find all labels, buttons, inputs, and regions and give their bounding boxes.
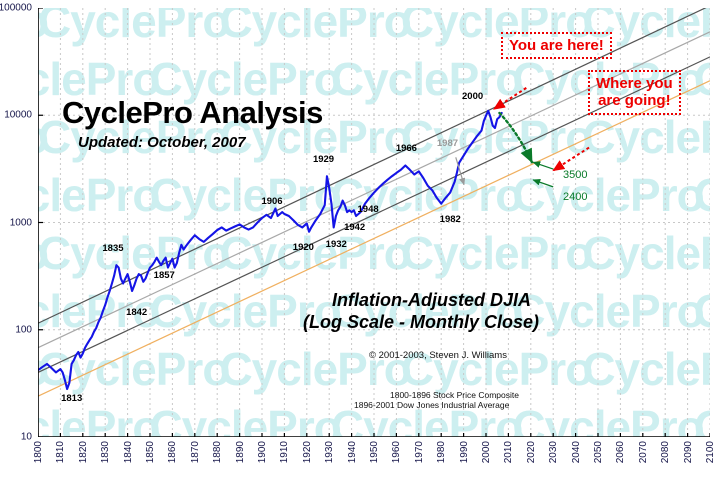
- x-tick-label: 1980: [436, 441, 447, 463]
- x-tick-label: 2100: [705, 441, 716, 463]
- x-tick-label: 1930: [324, 441, 335, 463]
- year-marker-1813: 1813: [61, 393, 82, 404]
- year-marker-1857: 1857: [154, 270, 175, 281]
- year-marker-1982: 1982: [440, 214, 461, 225]
- x-tick-label: 1940: [347, 441, 358, 463]
- callout-you-are-here-text: You are here!: [509, 37, 604, 54]
- chart-figure: CycleProCycleProCycleProCycleProCyclePro…: [0, 0, 716, 479]
- x-tick-label: 2030: [548, 441, 559, 463]
- callout-going-line1: Where you: [596, 75, 673, 92]
- year-marker-1987: 1987: [437, 138, 458, 149]
- x-tick-label: 1840: [123, 441, 134, 463]
- year-marker-2000: 2000: [462, 91, 483, 102]
- year-marker-1842: 1842: [126, 307, 147, 318]
- chart-title-line2: (Log Scale - Monthly Close): [303, 312, 539, 333]
- x-tick-label: 1960: [391, 441, 402, 463]
- source-line-1: 1800-1896 Stock Price Composite: [390, 390, 519, 400]
- x-tick-label: 2000: [481, 441, 492, 463]
- x-tick-label: 2010: [503, 441, 514, 463]
- x-tick-label: 1860: [167, 441, 178, 463]
- source-line-2: 1896-2001 Dow Jones Industrial Average: [354, 400, 509, 410]
- x-tick-label: 1800: [33, 441, 44, 463]
- x-tick-label: 2040: [571, 441, 582, 463]
- x-tick-label: 2060: [615, 441, 626, 463]
- year-marker-1920: 1920: [293, 242, 314, 253]
- x-tick-label: 2020: [526, 441, 537, 463]
- x-tick-label: 1830: [100, 441, 111, 463]
- x-tick-label: 1990: [459, 441, 470, 463]
- chart-title-line1: Inflation-Adjusted DJIA: [332, 290, 531, 311]
- projection-label-2400: 2400: [563, 191, 587, 203]
- x-tick-label: 1910: [279, 441, 290, 463]
- year-marker-1929: 1929: [313, 154, 334, 165]
- year-marker-1966: 1966: [396, 143, 417, 154]
- x-tick-label: 2080: [660, 441, 671, 463]
- x-tick-label: 2090: [683, 441, 694, 463]
- x-tick-label: 2070: [638, 441, 649, 463]
- x-tick-label: 1850: [145, 441, 156, 463]
- callout-going-line2: are going!: [596, 92, 673, 109]
- projection-label-3500: 3500: [563, 169, 587, 181]
- x-tick-label: 1970: [414, 441, 425, 463]
- x-tick-label: 2050: [593, 441, 604, 463]
- x-tick-label: 1810: [55, 441, 66, 463]
- x-tick-label: 1820: [78, 441, 89, 463]
- x-tick-label: 1890: [235, 441, 246, 463]
- copyright-notice: © 2001-2003, Steven J. Williams: [369, 350, 507, 361]
- year-marker-1948: 1948: [358, 204, 379, 215]
- callout-where-you-are-going: Where you are going!: [588, 70, 681, 115]
- updated-subtitle: Updated: October, 2007: [78, 134, 246, 151]
- x-tick-label: 1880: [212, 441, 223, 463]
- year-marker-1932: 1932: [326, 239, 347, 250]
- page-title: CyclePro Analysis: [62, 95, 323, 131]
- x-tick-label: 1920: [302, 441, 313, 463]
- x-tick-label: 1950: [369, 441, 380, 463]
- year-marker-1906: 1906: [261, 196, 282, 207]
- x-tick-label: 1870: [190, 441, 201, 463]
- year-marker-1942: 1942: [344, 222, 365, 233]
- callout-you-are-here: You are here!: [501, 32, 612, 59]
- x-tick-label: 1900: [257, 441, 268, 463]
- year-marker-1835: 1835: [102, 243, 123, 254]
